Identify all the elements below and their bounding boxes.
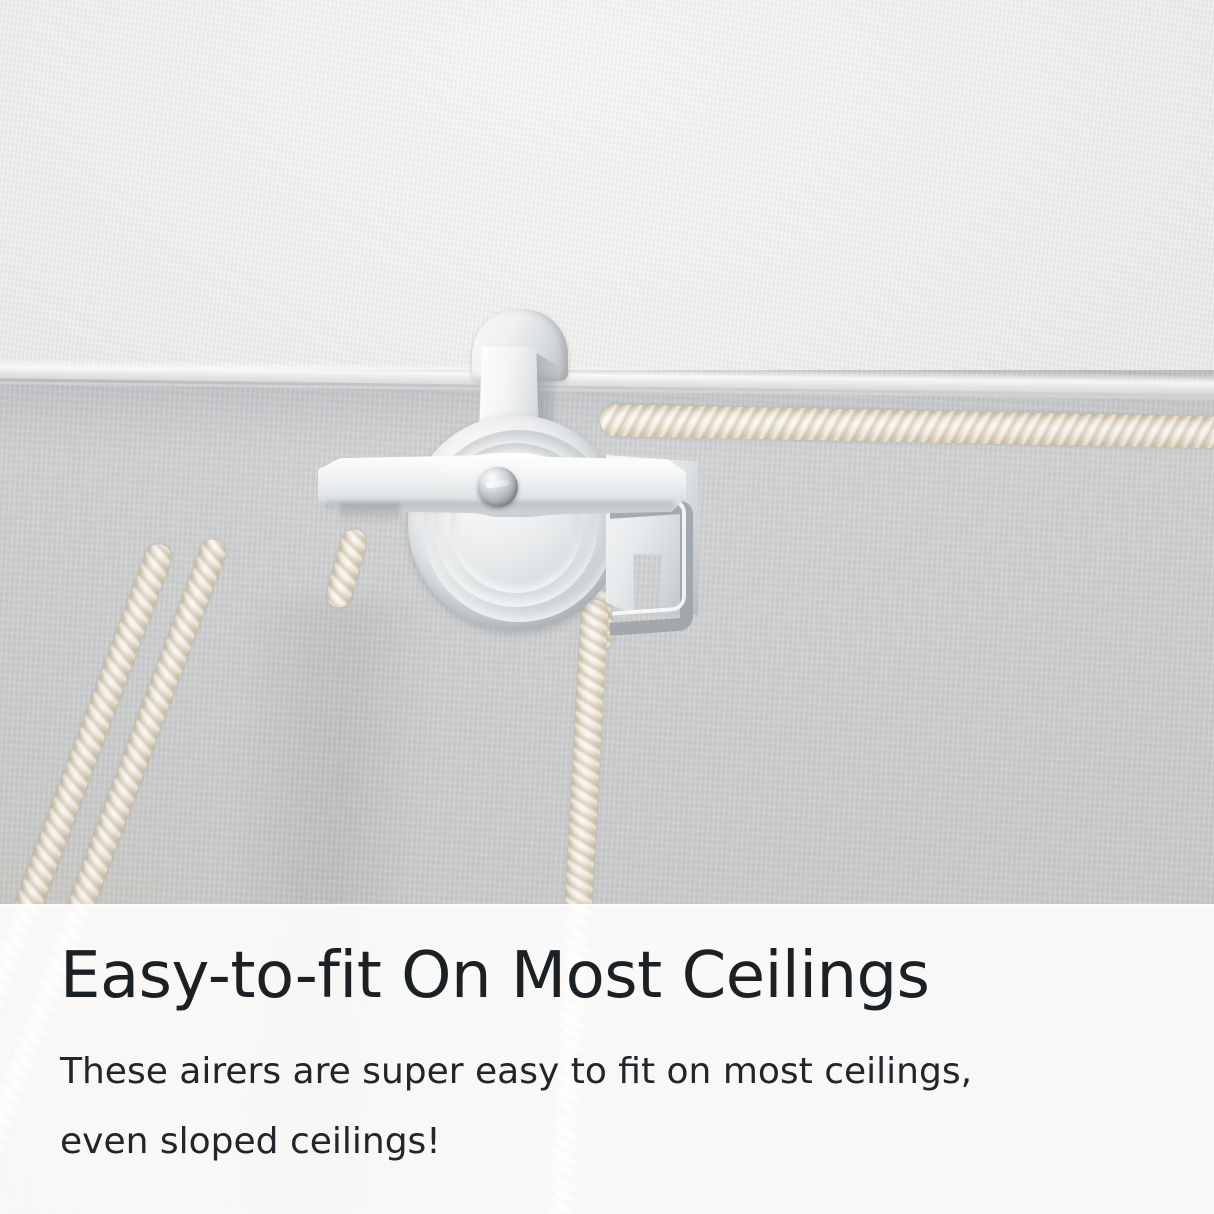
clamp-hook-highlight (612, 498, 686, 615)
cross-plate-left-shadow (340, 503, 400, 525)
body-copy: These airers are super easy to fit on mo… (60, 1037, 1160, 1177)
product-lifestyle-image: Easy-to-fit On Most Ceilings These airer… (0, 0, 1214, 1214)
body-copy-line-2: even sloped ceilings! (60, 1107, 1160, 1177)
body-copy-line-1: These airers are super easy to fit on mo… (60, 1037, 1160, 1107)
headline: Easy-to-fit On Most Ceilings (60, 944, 930, 1008)
caption-overlay-top-edge (0, 904, 1214, 906)
pulley-assembly (310, 305, 700, 695)
caption-overlay: Easy-to-fit On Most Ceilings These airer… (0, 904, 1214, 1214)
